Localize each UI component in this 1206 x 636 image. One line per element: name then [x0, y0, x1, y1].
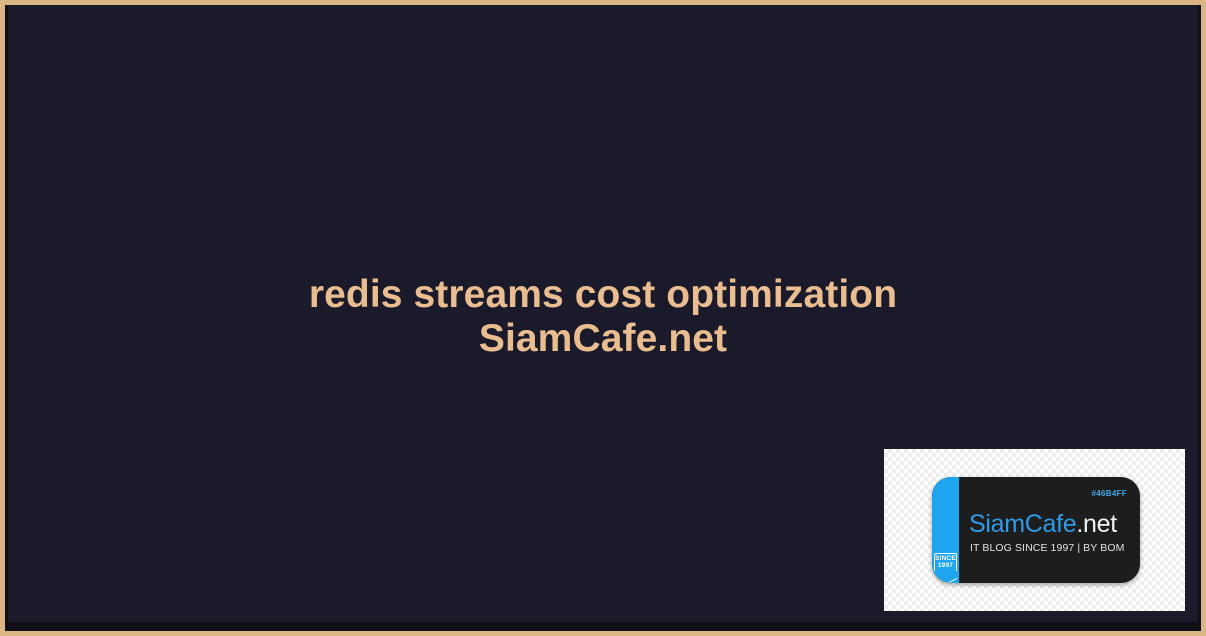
- logo-transparency-panel: SINCE 1997 #46B4FF SiamCafe.net IT BLOG …: [884, 449, 1185, 611]
- brand-wordmark-name: SiamCafe: [969, 510, 1076, 538]
- badge-point-shape: [934, 571, 957, 579]
- logo-text-area: #46B4FF SiamCafe.net IT BLOG SINCE 1997 …: [959, 477, 1140, 583]
- page-title-line-2: SiamCafe.net: [68, 317, 1138, 361]
- content-stage: redis streams cost optimization SiamCafe…: [8, 5, 1198, 622]
- siamcafe-logo-card: SINCE 1997 #46B4FF SiamCafe.net IT BLOG …: [932, 477, 1140, 583]
- page-title-line-1: redis streams cost optimization: [68, 273, 1138, 317]
- brand-tagline: IT BLOG SINCE 1997 | BY BOM: [970, 542, 1124, 554]
- logo-blue-strip: SINCE 1997: [932, 477, 959, 583]
- page-title: redis streams cost optimization SiamCafe…: [8, 273, 1198, 360]
- brand-wordmark: SiamCafe.net: [969, 510, 1117, 539]
- brand-hex-code: #46B4FF: [1092, 489, 1127, 498]
- brand-wordmark-tld: .net: [1076, 510, 1117, 538]
- outer-frame: redis streams cost optimization SiamCafe…: [0, 0, 1206, 636]
- inner-frame-band: redis streams cost optimization SiamCafe…: [5, 5, 1201, 631]
- since-1997-badge-icon: SINCE 1997: [934, 553, 957, 579]
- since-badge-line-2: 1997: [935, 563, 956, 570]
